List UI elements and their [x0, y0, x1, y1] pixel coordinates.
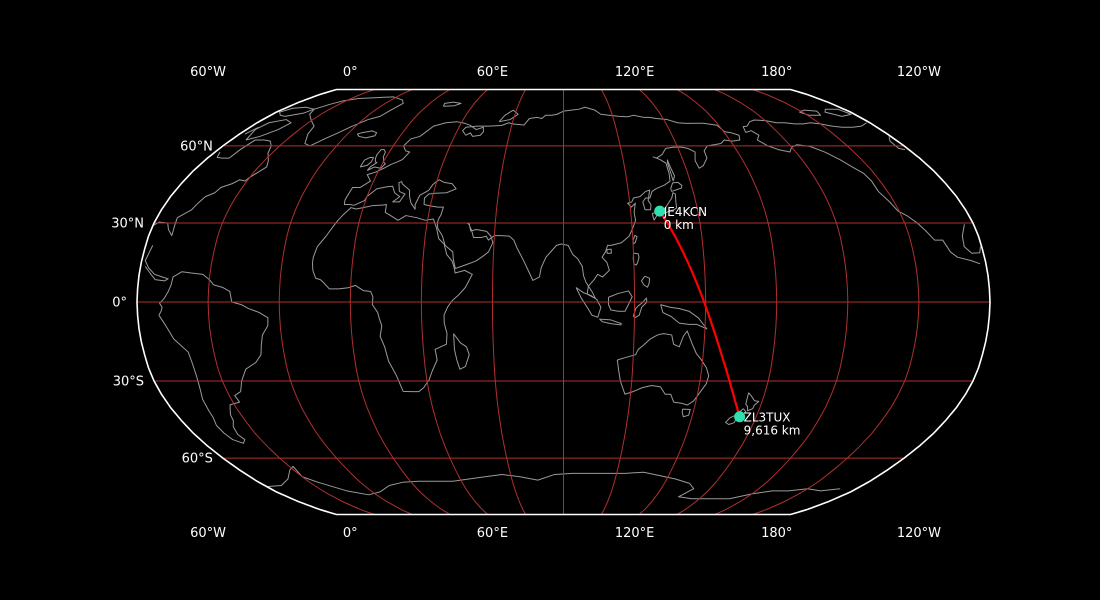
longitude-tick-label-top: 120°W	[897, 65, 941, 80]
latitude-tick-label: 60°N	[180, 139, 213, 154]
latitude-tick-label: 0°	[112, 296, 127, 311]
longitude-tick-label-top: 60°E	[477, 65, 508, 80]
map-canvas: 0°60°E120°E180°120°W60°W 0°60°E120°E180°…	[0, 0, 1100, 600]
longitude-tick-label-bottom: 180°	[761, 526, 792, 541]
longitude-tick-label-bottom: 60°E	[477, 526, 508, 541]
longitude-tick-label-top: 180°	[761, 65, 792, 80]
longitude-tick-label-top: 120°E	[615, 65, 655, 80]
longitude-tick-label-bottom: 0°	[343, 526, 358, 541]
station-callsign-label: ZL3TUX	[744, 411, 791, 425]
latitude-tick-label: 30°N	[111, 216, 144, 231]
map-figure: Robinson Projection PM65 to RE66HO (152°…	[0, 0, 1100, 600]
station-distance-label: 0 km	[664, 218, 694, 232]
longitude-tick-label-top: 0°	[343, 65, 358, 80]
longitude-tick-label-bottom: 120°E	[615, 526, 655, 541]
latitude-tick-label: 30°S	[113, 375, 144, 390]
longitude-tick-label-bottom: 120°W	[897, 526, 941, 541]
latitude-tick-label: 60°S	[182, 452, 213, 467]
longitude-tick-label-top: 60°W	[190, 65, 226, 80]
robinson-map-svg: 0°60°E120°E180°120°W60°W 0°60°E120°E180°…	[0, 0, 1100, 600]
station-callsign-label: JE4KCN	[663, 205, 707, 219]
station-distance-label: 9,616 km	[744, 424, 801, 438]
longitude-tick-label-bottom: 60°W	[190, 526, 226, 541]
